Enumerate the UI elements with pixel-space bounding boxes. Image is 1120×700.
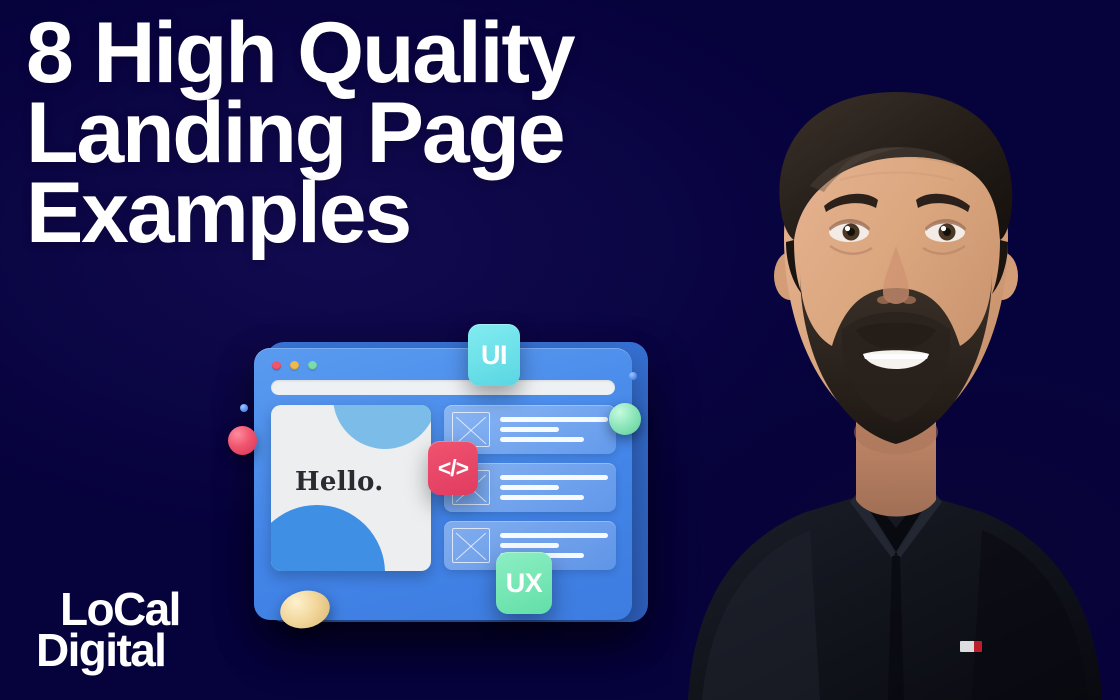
- browser-traffic-lights: [272, 361, 317, 370]
- hero-blob-bottom: [271, 505, 385, 571]
- ui-badge: UI: [468, 324, 520, 386]
- text-line: [500, 495, 584, 500]
- text-line: [500, 533, 608, 538]
- maximize-dot: [308, 361, 317, 370]
- brand-logo: LoCal Digital: [36, 589, 180, 670]
- ux-badge: UX: [496, 552, 552, 614]
- headline-line-2: Landing Page: [26, 94, 726, 174]
- minimize-dot: [290, 361, 299, 370]
- landing-page-illustration: Hello.: [232, 326, 652, 656]
- text-line: [500, 417, 608, 422]
- text-line: [500, 437, 584, 442]
- text-line: [500, 427, 559, 432]
- image-placeholder-icon: [452, 528, 490, 563]
- close-dot: [272, 361, 281, 370]
- pink-sphere-decoration: [228, 426, 257, 455]
- hero-card: Hello.: [271, 405, 431, 571]
- mint-sphere-decoration: [609, 403, 641, 435]
- presenter-photo: [660, 0, 1120, 700]
- headline-line-3: Examples: [26, 174, 726, 254]
- blue-dot-right-decoration: [629, 372, 637, 380]
- text-line: [500, 475, 608, 480]
- text-line: [500, 485, 559, 490]
- shirt-brand-tag: [960, 641, 982, 652]
- browser-url-bar: [271, 380, 615, 395]
- headline-line-1: 8 High Quality: [26, 14, 726, 94]
- logo-line-digital: Digital: [36, 630, 180, 670]
- video-thumbnail: 8 High Quality Landing Page Examples LoC…: [0, 0, 1120, 700]
- hero-blob-top: [333, 405, 431, 449]
- blue-dot-left-decoration: [240, 404, 248, 412]
- code-badge: </>: [428, 441, 478, 495]
- wireframe-text-lines: [500, 417, 608, 442]
- wireframe-text-lines: [500, 475, 608, 500]
- page-title: 8 High Quality Landing Page Examples: [26, 14, 726, 254]
- hero-heading: Hello.: [295, 467, 384, 497]
- text-line: [500, 543, 559, 548]
